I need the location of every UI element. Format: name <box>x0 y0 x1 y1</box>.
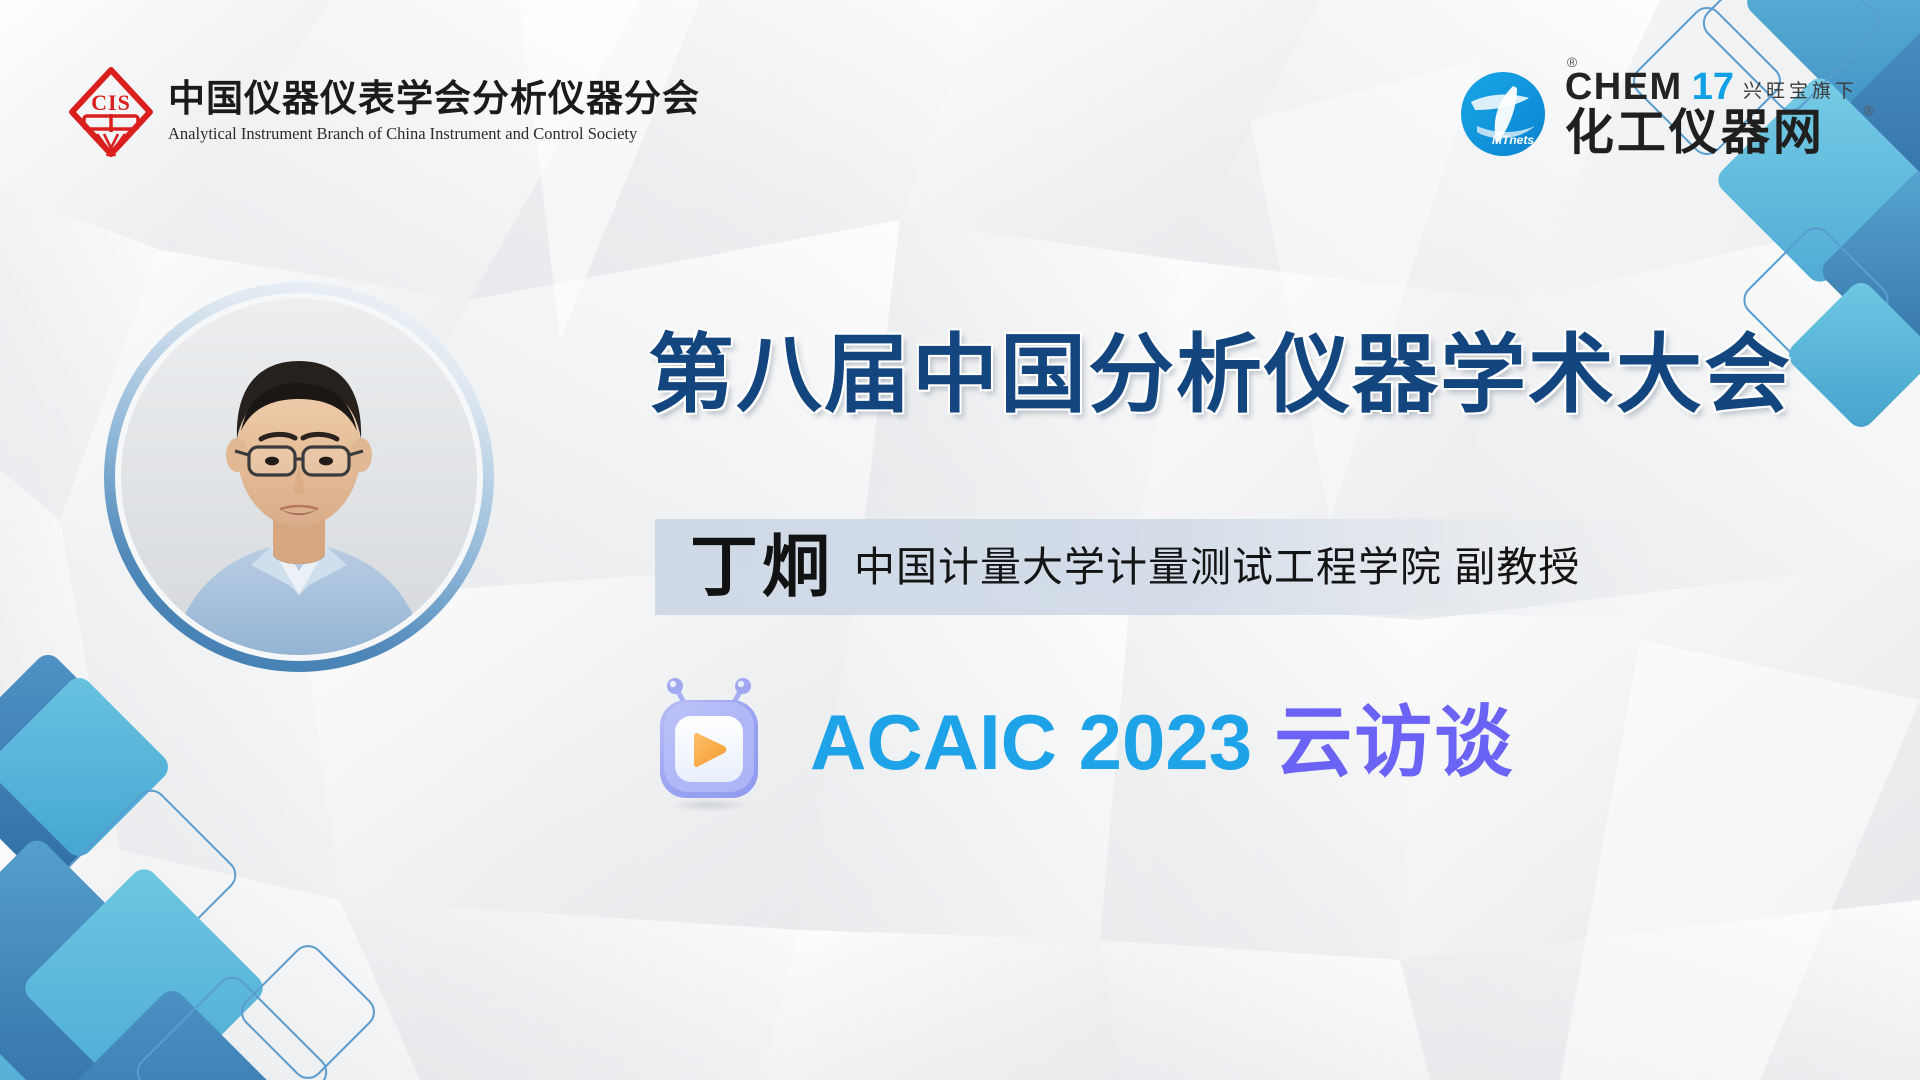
program-brand: ACAIC 2023 云访谈 <box>650 672 1514 812</box>
partner-name-cn-wrap: 化工仪器网 ® <box>1565 108 1858 159</box>
program-name-cn: 云访谈 <box>1274 703 1514 781</box>
speaker-affiliation: 中国计量大学计量测试工程学院 副教授 <box>854 547 1580 588</box>
society-logo-text: 中国仪器仪表学会分析仪器分会 Analytical Instrument Bra… <box>168 81 700 144</box>
chem-number: 17 <box>1692 68 1734 106</box>
program-title: ACAIC 2023 云访谈 <box>810 703 1514 781</box>
program-name-en: ACAIC 2023 <box>810 703 1252 781</box>
speaker-portrait <box>104 282 494 672</box>
partner-logo-text: ® CHEM 17 兴旺宝旗下 化工仪器网 ® <box>1565 68 1858 159</box>
mtnets-globe-icon: MTnets <box>1457 68 1549 160</box>
chem17-row: ® CHEM 17 兴旺宝旗下 <box>1565 68 1858 106</box>
partner-name-cn: 化工仪器网 <box>1565 106 1825 160</box>
tv-play-icon <box>650 672 768 812</box>
svg-text:CIS: CIS <box>91 90 131 115</box>
speaker-name: 丁炯 <box>690 533 834 601</box>
registered-mark-1: ® <box>1567 54 1577 70</box>
cis-diamond-icon: CIS <box>68 66 154 158</box>
partner-logo: MTnets ® CHEM 17 兴旺宝旗下 化工仪器网 ® <box>1457 68 1858 160</box>
portrait-photo <box>121 299 477 655</box>
society-name-cn: 中国仪器仪表学会分析仪器分会 <box>168 81 700 120</box>
society-name-en: Analytical Instrument Branch of China In… <box>168 124 700 144</box>
chem-tagline: 兴旺宝旗下 <box>1743 76 1858 106</box>
speaker-info: 丁炯 中国计量大学计量测试工程学院 副教授 <box>690 519 1580 615</box>
poster-canvas: CIS 中国仪器仪表学会分析仪器分会 Analytical Instrument… <box>0 0 1920 1080</box>
chem-wordmark: CHEM <box>1565 68 1683 106</box>
mtnets-wordmark: MTnets <box>1492 133 1534 147</box>
registered-mark-2: ® <box>1864 102 1874 118</box>
conference-title: 第八届中国分析仪器学术大会 <box>648 332 1792 418</box>
society-logo: CIS 中国仪器仪表学会分析仪器分会 Analytical Instrument… <box>68 66 700 158</box>
